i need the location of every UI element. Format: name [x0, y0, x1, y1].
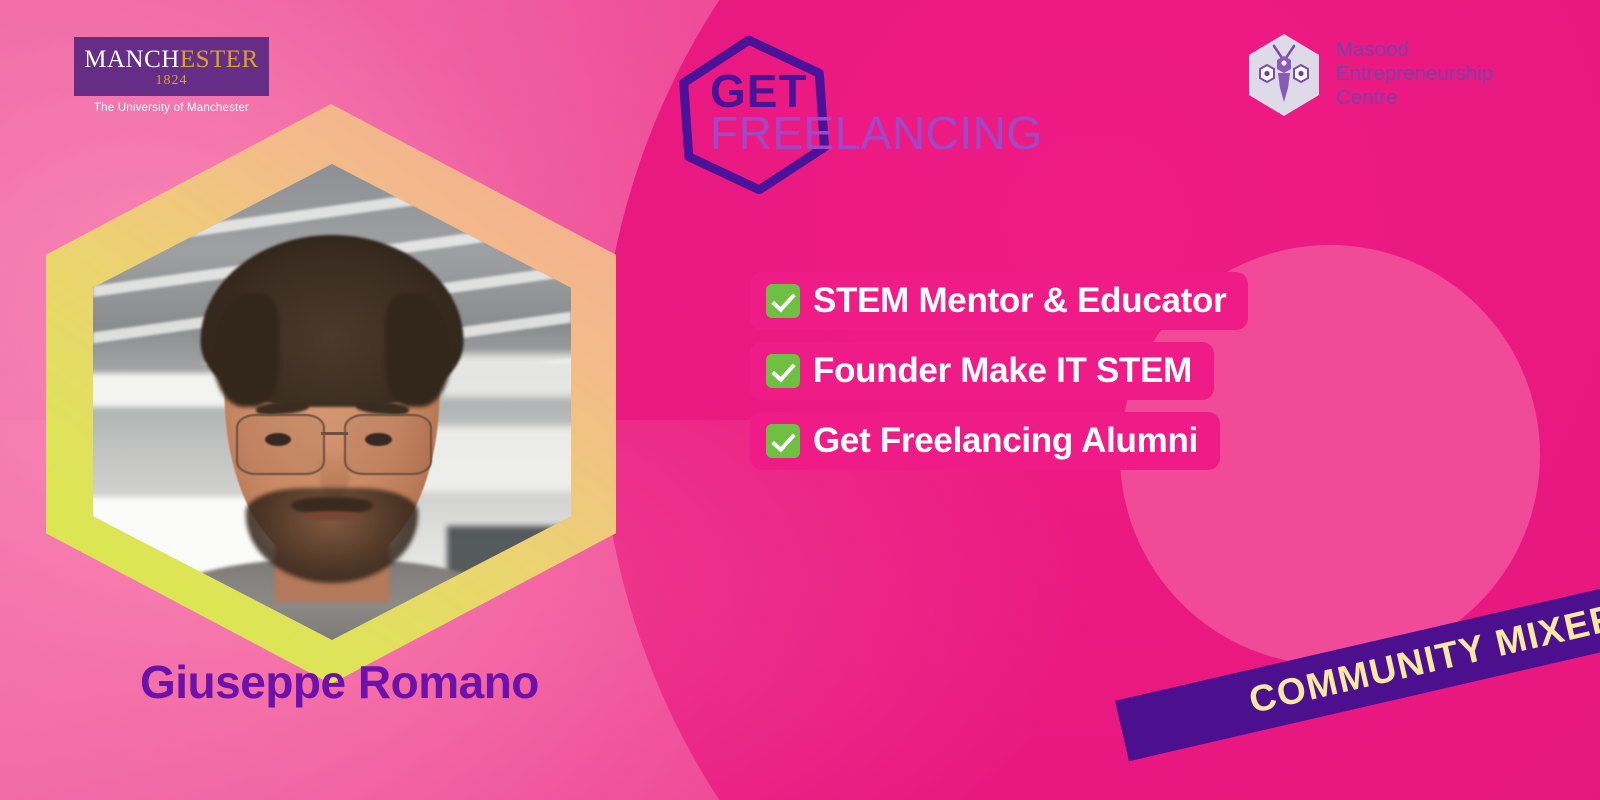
masood-line2: Entrepreneurship [1336, 62, 1493, 86]
masood-entrepreneurship-centre-logo: Masood Entrepreneurship Centre [1246, 32, 1493, 118]
credential-item: Founder Make IT STEM [750, 342, 1214, 400]
portrait-mouth [303, 511, 360, 520]
masood-line3: Centre [1336, 86, 1493, 110]
masood-line1: Masood [1336, 38, 1493, 62]
bee-hexagon-icon [1246, 32, 1322, 118]
manchester-wordmark-part1: MANCH [84, 46, 180, 73]
credential-item: STEM Mentor & Educator [750, 272, 1248, 330]
manchester-tagline: The University of Manchester [74, 102, 269, 114]
get-freelancing-wordmark: GET FREELANCING [710, 70, 1043, 155]
credentials-list: STEM Mentor & Educator Founder Make IT S… [750, 272, 1248, 470]
get-freelancing-line1: GET [710, 70, 1043, 112]
speaker-name: Giuseppe Romano [140, 655, 539, 709]
credential-label: STEM Mentor & Educator [813, 281, 1226, 321]
manchester-year: 1824 [84, 74, 259, 88]
credential-label: Founder Make IT STEM [813, 351, 1192, 391]
glasses-lens-right [344, 414, 432, 475]
masood-wordmark: Masood Entrepreneurship Centre [1336, 32, 1493, 109]
manchester-logo-block: MANCHESTER 1824 [74, 37, 269, 96]
credential-item: Get Freelancing Alumni [750, 412, 1220, 470]
glasses-lens-left [236, 414, 324, 475]
manchester-wordmark: MANCHESTER [84, 47, 259, 72]
photo-light-strip-c [418, 426, 571, 493]
credential-label: Get Freelancing Alumni [813, 421, 1198, 461]
check-mark-icon [766, 284, 800, 318]
check-mark-icon [766, 354, 800, 388]
get-freelancing-logo: GET FREELANCING [678, 28, 978, 188]
event-speaker-banner: Giuseppe Romano MANCHESTER 1824 The Univ… [0, 0, 1600, 800]
university-of-manchester-logo: MANCHESTER 1824 The University of Manche… [74, 37, 269, 114]
get-freelancing-line2: FREELANCING [710, 112, 1043, 154]
manchester-wordmark-part2: ESTER [180, 46, 259, 73]
check-mark-icon [766, 424, 800, 458]
